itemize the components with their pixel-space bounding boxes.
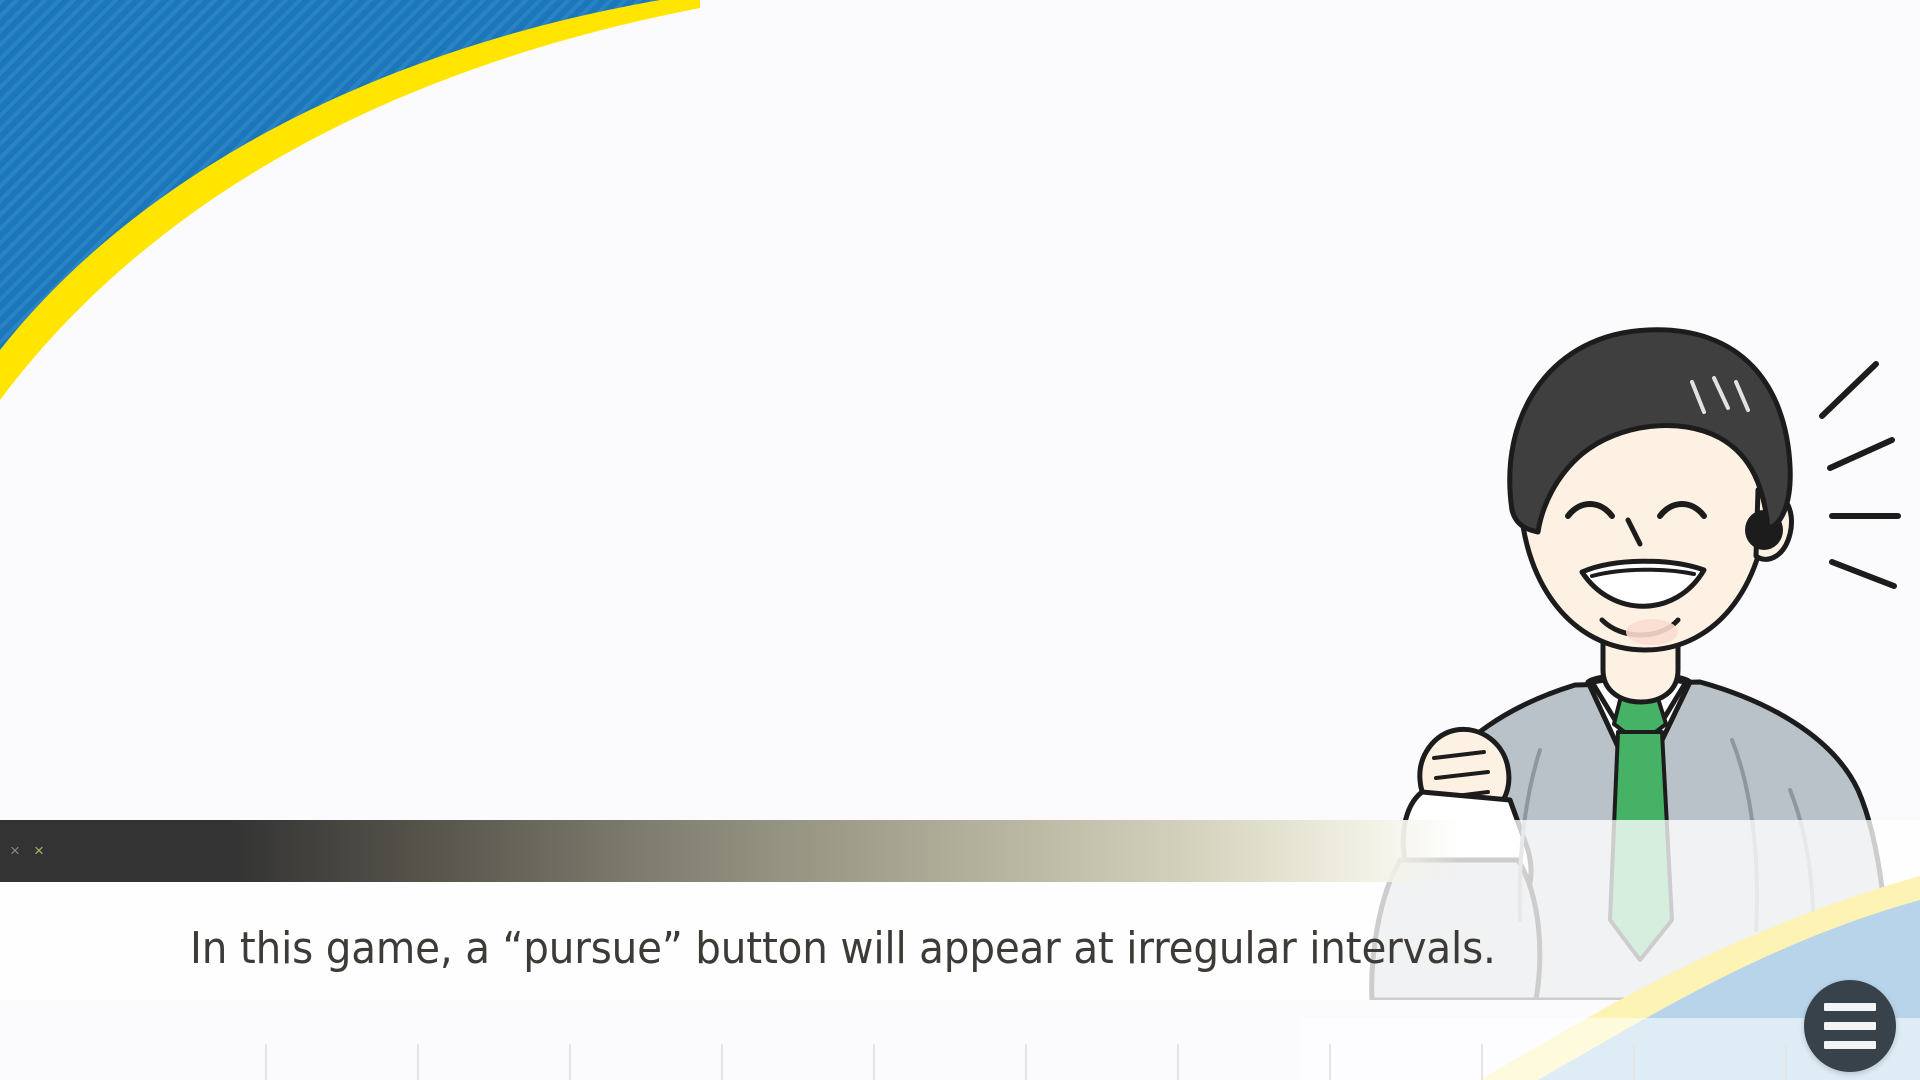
hamburger-menu-icon — [1824, 1022, 1876, 1030]
close-icon[interactable]: × — [34, 842, 44, 859]
timeline-tick — [417, 1044, 419, 1080]
hamburger-menu-icon — [1824, 1041, 1876, 1049]
timeline-tick — [265, 1044, 267, 1080]
hamburger-menu-icon — [1824, 1003, 1876, 1011]
timeline-tick — [1785, 1044, 1787, 1080]
timeline-tick — [1481, 1044, 1483, 1080]
timeline-tick — [569, 1044, 571, 1080]
timeline-ticks — [0, 1042, 1920, 1080]
caption-text: In this game, a “pursue” button will app… — [190, 924, 1496, 975]
swoosh-blue-body — [0, 0, 660, 350]
caption-area: In this game, a “pursue” button will app… — [0, 882, 1920, 1042]
timeline-tick — [721, 1044, 723, 1080]
timeline-tick — [1633, 1044, 1635, 1080]
timeline-tick — [1025, 1044, 1027, 1080]
timeline-tick — [1329, 1044, 1331, 1080]
subtitle-progress-strip[interactable] — [0, 820, 1920, 882]
strip-mark-group: × × — [10, 827, 44, 873]
action-lines — [1822, 364, 1898, 586]
slide-stage: × × In this game, a “pursue” button will… — [0, 0, 1920, 1080]
timeline-tick — [873, 1044, 875, 1080]
cheek-blush — [1626, 619, 1678, 645]
timeline-tick — [1177, 1044, 1179, 1080]
swoosh-yellow-band — [0, 0, 700, 400]
close-icon[interactable]: × — [10, 842, 20, 859]
hamburger-menu-button[interactable] — [1804, 980, 1896, 1072]
top-left-swoosh-decoration — [0, 0, 900, 420]
